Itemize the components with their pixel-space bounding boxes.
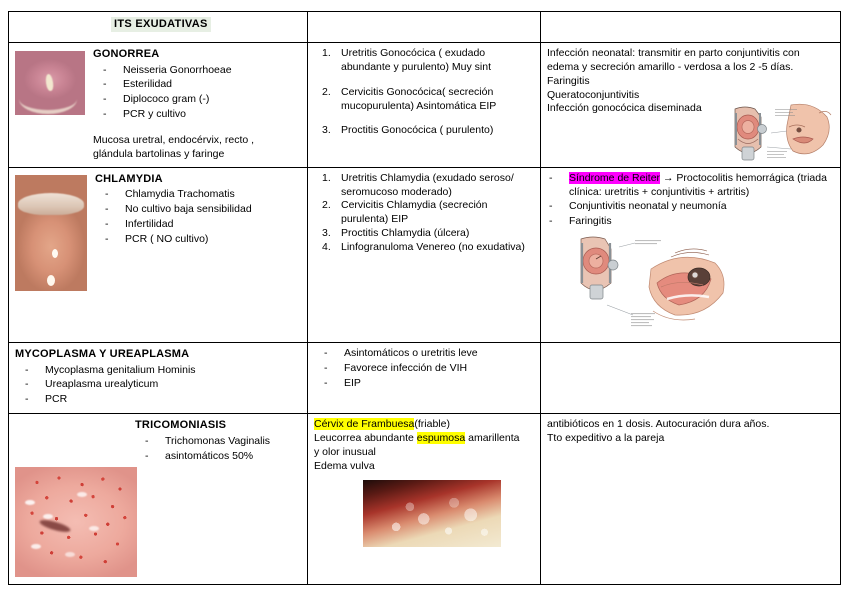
list-item-label: EIP [344, 377, 361, 389]
list-item-label: Infertilidad [125, 218, 173, 230]
mycoplasma-feature-list: -Mycoplasma genitalium Hominis -Ureaplas… [15, 364, 301, 408]
list-item: -Infertilidad [95, 218, 301, 232]
gonorrea-sites-line2: glándula bartolinas y faringe [93, 148, 301, 162]
neonatal-conjunctivitis-illustration [731, 103, 834, 163]
reiter-syndrome-highlight: Síndrome de Reiter [569, 172, 660, 184]
dash-bullet: - [103, 93, 107, 107]
chlamydia-title: CHLAMYDIA [95, 172, 301, 187]
list-item-label: Trichomonas Vaginalis [165, 435, 270, 447]
tricomoniasis-feature-list: -Trichomonas Vaginalis -asintomáticos 50… [135, 435, 301, 464]
list-item-label: No cultivo baja sensibilidad [125, 203, 252, 215]
tratamiento-line2: Tto expeditivo a la pareja [547, 432, 834, 446]
list-item: -Asintomáticos o uretritis leve [314, 347, 534, 361]
dash-bullet: - [324, 377, 328, 391]
list-item: - Conjuntivitis neonatal y neumonía [547, 200, 834, 214]
cervix-speculum-and-eye-conjunctivitis-illustration [575, 235, 743, 337]
list-item: Proctitis Chlamydia (úlcera) [314, 227, 534, 241]
list-item: -Neisseria Gonorrhoeae [93, 64, 301, 78]
list-item-label: Chlamydia Trachomatis [125, 188, 235, 200]
dash-bullet: - [324, 362, 328, 376]
gonorrea-comp-line3: Queratoconjuntivitis [547, 89, 834, 103]
dash-bullet: - [145, 450, 149, 464]
list-item: - Síndrome de Reiter → Proctocolitis hem… [547, 172, 834, 200]
chlamydia-clinical-list: Uretritis Chlamydia (exudado seroso/ ser… [314, 172, 534, 255]
list-item: -Favorece infección de VIH [314, 362, 534, 376]
gonorrea-feature-list: -Neisseria Gonorrhoeae -Esterilidad -Dip… [93, 64, 301, 122]
dash-bullet: - [25, 364, 29, 378]
list-item-label: Favorece infección de VIH [344, 362, 467, 374]
its-exudativas-table: ITS EXUDATIVAS GONORREA [8, 11, 841, 585]
chlamydia-complications-list: - Síndrome de Reiter → Proctocolitis hem… [547, 172, 834, 229]
tricomoniasis-line2: Leucorrea abundante espumosa amarillenta [314, 432, 534, 446]
mycoplasma-clinical-list: -Asintomáticos o uretritis leve -Favorec… [314, 347, 534, 391]
list-item-label: Neisseria Gonorrhoeae [123, 64, 232, 76]
list-item: -No cultivo baja sensibilidad [95, 203, 301, 217]
dash-bullet: - [549, 172, 553, 186]
list-item: -Esterilidad [93, 78, 301, 92]
dash-bullet: - [25, 378, 29, 392]
list-item-label: PCR ( NO cultivo) [125, 233, 208, 245]
dash-bullet: - [549, 200, 553, 214]
mycoplasma-clinica-cell: -Asintomáticos o uretritis leve -Favorec… [308, 343, 541, 414]
cervix-gonorrhea-photo [15, 51, 85, 115]
cervix-frambuesa-rest: (friable) [414, 418, 450, 430]
cervix-frambuesa-highlight: Cérvix de Frambuesa [314, 418, 414, 430]
neonatal-illustration-svg [731, 103, 834, 163]
gonorrea-complicaciones-cell: Infección neonatal: transmitir en parto … [541, 43, 841, 168]
chlamydia-feature-list: -Chlamydia Trachomatis -No cultivo baja … [95, 188, 301, 246]
list-item: Proctitis Gonocócica ( purulento) [314, 124, 534, 138]
chlamydia-illustration-svg [575, 235, 743, 337]
dash-bullet: - [105, 188, 109, 202]
list-item-label: Mycoplasma genitalium Hominis [45, 364, 196, 376]
header-cell-title: ITS EXUDATIVAS [9, 12, 308, 43]
list-item-label: Conjuntivitis neonatal y neumonía [569, 200, 727, 212]
mycoplasma-complicaciones-cell [541, 343, 841, 414]
table-row-gonorrea: GONORREA -Neisseria Gonorrhoeae -Esteril… [9, 43, 841, 168]
list-item: Cervicitis Gonocócica( secreción mucopur… [314, 86, 534, 114]
dash-bullet: - [103, 64, 107, 78]
tricomoniasis-tratamiento-cell: antibióticos en 1 dosis. Autocuración du… [541, 414, 841, 585]
list-item: -Diplococo gram (-) [93, 93, 301, 107]
table-row-tricomoniasis: TRICOMONIASIS -Trichomonas Vaginalis -as… [9, 414, 841, 585]
list-item-label: Esterilidad [123, 78, 172, 90]
list-item: -Trichomonas Vaginalis [135, 435, 301, 449]
tricomoniasis-clinica-cell: Cérvix de Frambuesa(friable) Leucorrea a… [308, 414, 541, 585]
penile-chlamydia-photo [15, 175, 87, 291]
list-item: Uretritis Chlamydia (exudado seroso/ ser… [314, 172, 534, 200]
dash-bullet: - [105, 218, 109, 232]
table-header-row: ITS EXUDATIVAS [9, 12, 841, 43]
dash-bullet: - [105, 203, 109, 217]
gonorrea-clinical-list: Uretritis Gonocócica ( exudado abundante… [314, 47, 534, 138]
tratamiento-line1: antibióticos en 1 dosis. Autocuración du… [547, 418, 834, 432]
chlamydia-complicaciones-cell: - Síndrome de Reiter → Proctocolitis hem… [541, 167, 841, 342]
list-item: -PCR y cultivo [93, 108, 301, 122]
dash-bullet: - [103, 78, 107, 92]
tricomoniasis-line3: y olor inusual [314, 446, 534, 460]
gonorrea-clinica-cell: Uretritis Gonocócica ( exudado abundante… [308, 43, 541, 168]
document-page: ITS EXUDATIVAS GONORREA [0, 0, 848, 600]
header-cell-complicaciones [541, 12, 841, 43]
dash-bullet: - [324, 347, 328, 361]
header-cell-clinica [308, 12, 541, 43]
gonorrea-comp-line2: Faringitis [547, 75, 834, 89]
tricomoniasis-line4: Edema vulva [314, 460, 534, 474]
list-item: -EIP [314, 377, 534, 391]
list-item-label: PCR y cultivo [123, 108, 186, 120]
chlamydia-clinica-cell: Uretritis Chlamydia (exudado seroso/ ser… [308, 167, 541, 342]
strawberry-cervix-photo [15, 467, 137, 577]
gonorrea-sites-line1: Mucosa uretral, endocérvix, recto , [93, 134, 301, 148]
dash-bullet: - [103, 108, 107, 122]
list-item-label: asintomáticos 50% [165, 450, 253, 462]
gonorrea-title: GONORREA [93, 47, 301, 62]
list-item: -Chlamydia Trachomatis [95, 188, 301, 202]
page-title: ITS EXUDATIVAS [111, 17, 211, 32]
tricomoniasis-line1: Cérvix de Frambuesa(friable) [314, 418, 534, 432]
list-item: -PCR ( NO cultivo) [95, 233, 301, 247]
table-row-chlamydia: CHLAMYDIA -Chlamydia Trachomatis -No cul… [9, 167, 841, 342]
leucorrea-pre: Leucorrea abundante [314, 432, 417, 444]
dash-bullet: - [145, 435, 149, 449]
list-item: -PCR [15, 393, 301, 407]
list-item: -Ureaplasma urealyticum [15, 378, 301, 392]
tricomoniasis-agent-cell: TRICOMONIASIS -Trichomonas Vaginalis -as… [9, 414, 308, 585]
table-row-mycoplasma: MYCOPLASMA Y UREAPLASMA -Mycoplasma geni… [9, 343, 841, 414]
mycoplasma-title: MYCOPLASMA Y UREAPLASMA [15, 347, 301, 362]
mycoplasma-agent-cell: MYCOPLASMA Y UREAPLASMA -Mycoplasma geni… [9, 343, 308, 414]
list-item: Linfogranuloma Venereo (no exudativa) [314, 241, 534, 255]
list-item: Uretritis Gonocócica ( exudado abundante… [314, 47, 534, 75]
tricomoniasis-title: TRICOMONIASIS [135, 418, 301, 433]
gonorrea-agent-cell: GONORREA -Neisseria Gonorrhoeae -Esteril… [9, 43, 308, 168]
list-item: -asintomáticos 50% [135, 450, 301, 464]
dash-bullet: - [549, 215, 553, 229]
list-item: -Mycoplasma genitalium Hominis [15, 364, 301, 378]
espumosa-highlight: espumosa [417, 432, 465, 444]
gonorrea-comp-line1: Infección neonatal: transmitir en parto … [547, 47, 834, 75]
chlamydia-agent-cell: CHLAMYDIA -Chlamydia Trachomatis -No cul… [9, 167, 308, 342]
dash-bullet: - [25, 393, 29, 407]
list-item-label: Ureaplasma urealyticum [45, 378, 158, 390]
list-item: Cervicitis Chlamydia (secreción purulent… [314, 199, 534, 227]
list-item-label: Faringitis [569, 215, 612, 227]
list-item-label: PCR [45, 393, 67, 405]
dash-bullet: - [105, 233, 109, 247]
list-item-label: Asintomáticos o uretritis leve [344, 347, 478, 359]
leucorrea-post: amarillenta [465, 432, 519, 444]
frothy-discharge-photo [363, 480, 501, 547]
list-item-label: Diplococo gram (-) [123, 93, 209, 105]
list-item: - Faringitis [547, 215, 834, 229]
